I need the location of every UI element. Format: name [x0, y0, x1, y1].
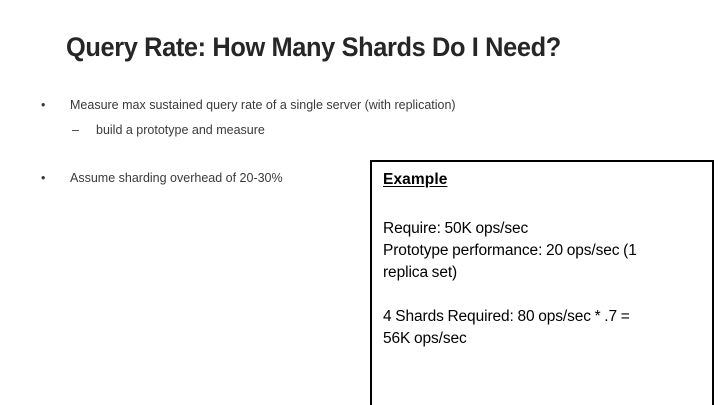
example-paragraph-requirements: Require: 50K ops/sec Prototype performan…: [383, 218, 703, 284]
example-callout-box: Example Require: 50K ops/sec Prototype p…: [370, 160, 714, 405]
bullet-text: Assume sharding overhead of 20-30%: [70, 171, 283, 185]
example-heading: Example: [383, 171, 447, 189]
example-line: replica set): [383, 262, 703, 284]
example-line: Require: 50K ops/sec: [383, 218, 703, 240]
bullet-item-overhead: • Assume sharding overhead of 20-30%: [0, 169, 370, 187]
bullet-item-prototype: – build a prototype and measure: [0, 121, 370, 139]
example-paragraph-result: 4 Shards Required: 80 ops/sec * .7 = 56K…: [383, 306, 703, 350]
bullet-list: • Measure max sustained query rate of a …: [0, 96, 370, 187]
bullet-spacer: [0, 139, 370, 169]
slide-canvas: Query Rate: How Many Shards Do I Need? •…: [0, 0, 720, 405]
example-line: 4 Shards Required: 80 ops/sec * .7 =: [383, 306, 703, 328]
dash-marker-icon: –: [72, 121, 79, 139]
example-line: 56K ops/sec: [383, 328, 703, 350]
bullet-text: build a prototype and measure: [96, 123, 265, 137]
example-body: Require: 50K ops/sec Prototype performan…: [383, 218, 703, 350]
page-title: Query Rate: How Many Shards Do I Need?: [66, 30, 649, 64]
bullet-marker-icon: •: [41, 169, 45, 187]
bullet-text: Measure max sustained query rate of a si…: [70, 98, 456, 112]
bullet-item-measure: • Measure max sustained query rate of a …: [0, 96, 370, 114]
example-line: Prototype performance: 20 ops/sec (1: [383, 240, 703, 262]
bullet-marker-icon: •: [41, 96, 45, 114]
